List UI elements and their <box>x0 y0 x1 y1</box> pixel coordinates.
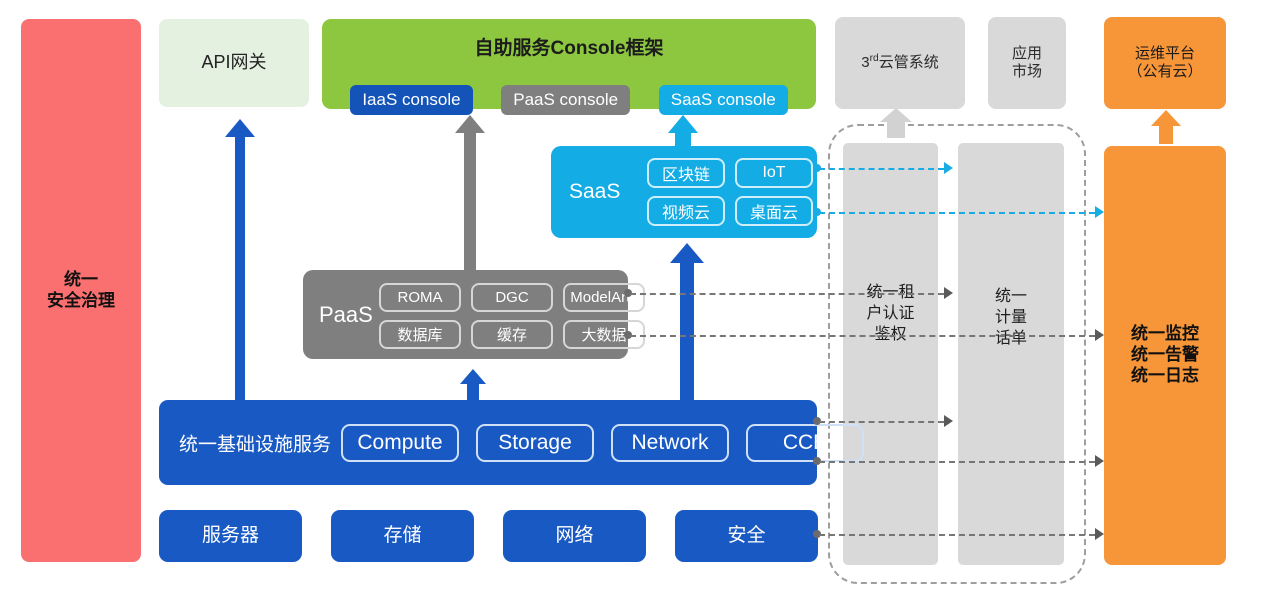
saas-block[interactable]: SaaS 区块链 IoT 视频云 桌面云 <box>551 146 817 238</box>
infrastructure-label: 统一基础设施服务 <box>179 429 331 456</box>
hardware-label-network: 网络 <box>555 524 593 547</box>
paas-console-label: PaaS console <box>513 90 618 110</box>
app-market-line-2: 市场 <box>1012 63 1042 81</box>
console-frame-title: 自助服务Console框架 <box>322 33 816 60</box>
third-party-suffix: 云管系统 <box>879 54 939 71</box>
arrow-to-third-party-cloud <box>880 108 912 138</box>
billing-column-label: 统一 计量 话单 <box>958 287 1064 349</box>
arrow-infra-to-paas <box>458 369 488 401</box>
saas-item-desktop-cloud[interactable]: 桌面云 <box>735 196 813 226</box>
paas-item-modelarts[interactable]: ModelArts <box>563 283 645 312</box>
security-line-1: 统一 <box>47 270 115 291</box>
ops-col-line-1: 统一监控 <box>1131 324 1199 345</box>
connector-arrowhead-saas-2 <box>1095 206 1104 218</box>
billing-line-2: 计量 <box>958 308 1064 329</box>
hardware-label-storage: 存储 <box>383 524 421 547</box>
security-line-2: 安全治理 <box>47 291 115 312</box>
saas-item-video-cloud[interactable]: 视频云 <box>647 196 725 226</box>
paas-item-database[interactable]: 数据库 <box>379 320 461 349</box>
connector-hardware-to-ops <box>819 534 1095 536</box>
unified-infrastructure-bar[interactable]: 统一基础设施服务 Compute Storage Network CCE <box>159 400 817 485</box>
saas-item-blockchain-label: 区块链 <box>662 161 710 185</box>
paas-block[interactable]: PaaS ROMA DGC ModelArts 数据库 缓存 大数据 <box>303 270 628 359</box>
connector-arrowhead-paas-2 <box>1095 329 1104 341</box>
connector-infra-to-ops <box>819 461 1095 463</box>
saas-item-iot-label: IoT <box>762 164 785 182</box>
paas-item-cache-label: 缓存 <box>497 324 527 345</box>
ops-platform-column[interactable]: 统一监控 统一告警 统一日志 <box>1104 146 1226 565</box>
iaas-console-label: IaaS console <box>362 90 460 110</box>
hardware-label-server: 服务器 <box>202 524 259 547</box>
api-gateway-label: API网关 <box>201 52 266 74</box>
connector-arrowhead-paas-1 <box>944 287 953 299</box>
paas-item-cache[interactable]: 缓存 <box>471 320 553 349</box>
infra-item-storage[interactable]: Storage <box>476 424 594 462</box>
ops-top-line-1: 运维平台 <box>1127 45 1202 63</box>
billing-line-3: 话单 <box>958 329 1064 350</box>
arrow-to-ops-platform <box>1150 110 1182 144</box>
connector-paas-to-billing <box>630 293 944 295</box>
paas-item-database-label: 数据库 <box>397 324 442 345</box>
connector-arrowhead-hardware <box>1095 528 1104 540</box>
connector-infra-to-billing <box>819 421 944 423</box>
auth-line-2: 户认证 <box>843 304 938 325</box>
iaas-console-pill[interactable]: IaaS console <box>350 85 472 115</box>
paas-item-roma-label: ROMA <box>398 289 443 306</box>
hardware-box-storage[interactable]: 存储 <box>331 510 474 562</box>
billing-column <box>958 143 1064 565</box>
self-service-console-frame[interactable]: 自助服务Console框架 IaaS console PaaS console … <box>322 19 816 109</box>
app-market-line-1: 应用 <box>1012 45 1042 63</box>
saas-console-label: SaaS console <box>671 90 776 110</box>
hardware-box-security[interactable]: 安全 <box>675 510 818 562</box>
connector-arrowhead-saas-1 <box>944 162 953 174</box>
paas-item-bigdata-label: 大数据 <box>581 324 626 345</box>
saas-label: SaaS <box>569 180 620 204</box>
ops-col-line-3: 统一日志 <box>1131 366 1199 387</box>
connector-saas-to-ops <box>819 212 1095 214</box>
infra-item-network-label: Network <box>631 431 708 455</box>
ops-platform-top-box[interactable]: 运维平台 （公有云） <box>1104 17 1226 109</box>
infra-item-storage-label: Storage <box>498 431 572 455</box>
connector-saas-to-billing <box>819 168 944 170</box>
paas-console-pill[interactable]: PaaS console <box>501 85 630 115</box>
arrow-infra-to-saas <box>670 243 704 401</box>
paas-label: PaaS <box>319 302 373 328</box>
api-gateway-box[interactable]: API网关 <box>159 19 309 107</box>
infra-item-network[interactable]: Network <box>611 424 729 462</box>
third-party-superscript: rd <box>870 53 879 64</box>
connector-arrowhead-infra-1 <box>944 415 953 427</box>
paas-item-roma[interactable]: ROMA <box>379 283 461 312</box>
saas-item-blockchain[interactable]: 区块链 <box>647 158 725 188</box>
saas-item-iot[interactable]: IoT <box>735 158 813 188</box>
security-governance-column[interactable]: 统一 安全治理 <box>21 19 141 562</box>
saas-item-desktop-cloud-label: 桌面云 <box>750 199 798 223</box>
hardware-label-security: 安全 <box>727 524 765 547</box>
arrow-saas-to-console <box>668 115 698 149</box>
paas-item-dgc-label: DGC <box>495 289 528 306</box>
paas-item-dgc[interactable]: DGC <box>471 283 553 312</box>
auth-column <box>843 143 938 565</box>
architecture-diagram: 统一租 户认证 鉴权 统一 计量 话单 统一 安全治理 API网关 自助服务Co… <box>0 0 1265 605</box>
ops-top-line-2: （公有云） <box>1127 63 1202 81</box>
billing-line-1: 统一 <box>958 287 1064 308</box>
third-party-prefix: 3 <box>861 54 869 71</box>
infra-item-cce-label: CCE <box>783 431 827 455</box>
arrow-infra-to-api-gateway <box>225 119 255 400</box>
infra-item-compute-label: Compute <box>357 431 442 455</box>
saas-console-pill[interactable]: SaaS console <box>659 85 788 115</box>
app-market-box[interactable]: 应用 市场 <box>988 17 1066 109</box>
third-party-cloud-mgmt-box[interactable]: 3rd云管系统 <box>835 17 965 109</box>
arrow-paas-to-console <box>455 115 485 271</box>
infra-item-cce[interactable]: CCE <box>746 424 864 462</box>
hardware-box-network[interactable]: 网络 <box>503 510 646 562</box>
infra-item-compute[interactable]: Compute <box>341 424 459 462</box>
connector-paas-to-ops <box>630 335 1095 337</box>
ops-col-line-2: 统一告警 <box>1131 345 1199 366</box>
saas-item-video-cloud-label: 视频云 <box>662 199 710 223</box>
connector-arrowhead-infra-2 <box>1095 455 1104 467</box>
hardware-box-server[interactable]: 服务器 <box>159 510 302 562</box>
